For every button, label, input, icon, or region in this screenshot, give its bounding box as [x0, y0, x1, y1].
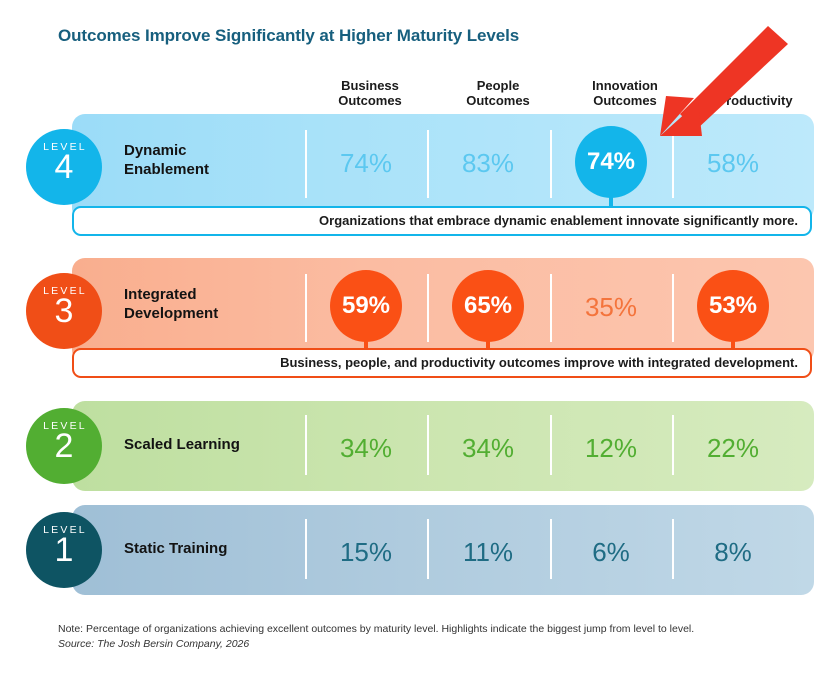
row-label-line1: Scaled Learning	[124, 435, 240, 454]
value-cell-level1-innovation: 6%	[551, 527, 671, 575]
value-cell-level1-business: 15%	[306, 527, 426, 575]
value-text: 58%	[673, 138, 793, 188]
row-label-level-4: Dynamic Enablement	[124, 141, 209, 179]
level-badge-number: 4	[26, 151, 102, 184]
column-header-line1: Innovation	[560, 78, 690, 93]
highlight-bubble: 65%	[452, 270, 524, 342]
value-text: 11%	[428, 527, 548, 577]
value-text: 15%	[306, 527, 426, 577]
level-badge-number: 1	[26, 534, 102, 567]
value-cell-level2-innovation: 12%	[551, 423, 671, 471]
value-cell-level4-productivity: 58%	[673, 138, 793, 190]
column-header-line1: Productivity	[690, 93, 820, 108]
row-label-level-3: Integrated Development	[124, 285, 218, 323]
callout-box-level-4: Organizations that embrace dynamic enabl…	[72, 206, 812, 236]
level-badge-1: LEVEL 1	[26, 512, 102, 588]
row-label-level-1: Static Training	[124, 539, 227, 558]
column-header-line1: People	[433, 78, 563, 93]
value-cell-level3-productivity-highlighted: 53%	[673, 282, 793, 334]
value-text: 12%	[551, 423, 671, 473]
column-header-productivity: Productivity	[690, 93, 820, 108]
value-cell-level3-innovation: 35%	[551, 282, 671, 334]
highlight-bubble: 59%	[330, 270, 402, 342]
value-text: 8%	[673, 527, 793, 577]
value-cell-level1-people: 11%	[428, 527, 548, 575]
level-badge-number: 3	[26, 295, 102, 328]
maturity-row-level-4: LEVEL 4 Dynamic Enablement 74% 83% 74% 5…	[72, 114, 814, 221]
callout-text: Organizations that embrace dynamic enabl…	[319, 208, 798, 234]
column-header-business-outcomes: Business Outcomes	[305, 78, 435, 108]
maturity-row-level-3: LEVEL 3 Integrated Development 59% 65% 3…	[72, 258, 814, 363]
row-label-line2: Enablement	[124, 160, 209, 179]
footnote-note: Note: Percentage of organizations achiev…	[58, 622, 694, 637]
level-badge-3: LEVEL 3	[26, 273, 102, 349]
value-cell-level2-productivity: 22%	[673, 423, 793, 471]
column-header-innovation-outcomes: Innovation Outcomes	[560, 78, 690, 108]
row-label-line1: Static Training	[124, 539, 227, 558]
value-text: 34%	[306, 423, 426, 473]
value-text: 35%	[551, 282, 671, 332]
footnote-source: Source: The Josh Bersin Company, 2026	[58, 637, 694, 652]
level-badge-4: LEVEL 4	[26, 129, 102, 205]
page-title: Outcomes Improve Significantly at Higher…	[58, 26, 519, 46]
level-badge-number: 2	[26, 430, 102, 463]
value-cell-level3-business-highlighted: 59%	[306, 282, 426, 334]
value-text: 6%	[551, 527, 671, 577]
value-text: 83%	[428, 138, 548, 188]
column-header-line2: Outcomes	[560, 93, 690, 108]
value-cell-level4-people: 83%	[428, 138, 548, 190]
row-label-line1: Dynamic	[124, 141, 209, 160]
row-label-line1: Integrated	[124, 285, 218, 304]
maturity-level-infographic: Outcomes Improve Significantly at Higher…	[0, 0, 832, 683]
highlight-bubble: 53%	[697, 270, 769, 342]
callout-box-level-3: Business, people, and productivity outco…	[72, 348, 812, 378]
maturity-row-level-1: LEVEL 1 Static Training 15% 11% 6% 8%	[72, 505, 814, 595]
callout-text: Business, people, and productivity outco…	[280, 350, 798, 376]
highlight-bubble: 74%	[575, 126, 647, 198]
maturity-row-level-2: LEVEL 2 Scaled Learning 34% 34% 12% 22%	[72, 401, 814, 491]
value-cell-level3-people-highlighted: 65%	[428, 282, 548, 334]
value-cell-level4-business: 74%	[306, 138, 426, 190]
column-header-line1: Business	[305, 78, 435, 93]
value-cell-level1-productivity: 8%	[673, 527, 793, 575]
footnote: Note: Percentage of organizations achiev…	[58, 622, 694, 652]
column-header-line2: Outcomes	[305, 93, 435, 108]
level-badge-2: LEVEL 2	[26, 408, 102, 484]
value-cell-level2-business: 34%	[306, 423, 426, 471]
value-text: 34%	[428, 423, 548, 473]
column-header-people-outcomes: People Outcomes	[433, 78, 563, 108]
value-text: 74%	[306, 138, 426, 188]
column-header-line2: Outcomes	[433, 93, 563, 108]
value-cell-level4-innovation-highlighted: 74%	[551, 138, 671, 190]
row-label-level-2: Scaled Learning	[124, 435, 240, 454]
value-text: 22%	[673, 423, 793, 473]
value-cell-level2-people: 34%	[428, 423, 548, 471]
row-label-line2: Development	[124, 304, 218, 323]
